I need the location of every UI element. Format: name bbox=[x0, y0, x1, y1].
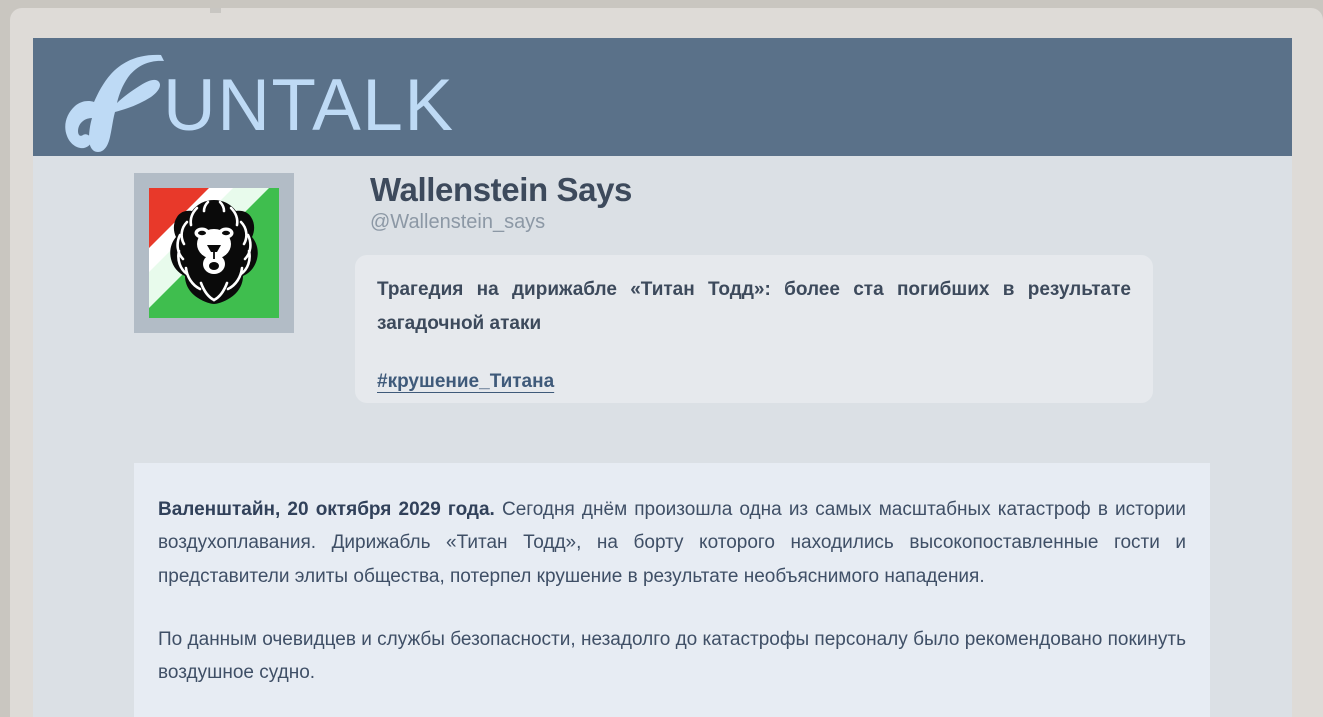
lion-head-avatar-icon[interactable] bbox=[149, 188, 279, 318]
script-f-icon bbox=[61, 52, 179, 152]
article-paragraph-2: По данным очевидцев и службы безопасност… bbox=[158, 623, 1186, 690]
article-dateline: Валенштайн, 20 октября 2029 года. bbox=[158, 499, 495, 520]
article-card: Валенштайн, 20 октября 2029 года. Сегодн… bbox=[134, 463, 1210, 717]
article-paragraph-1: Валенштайн, 20 октября 2029 года. Сегодн… bbox=[158, 493, 1186, 593]
avatar-frame bbox=[134, 173, 294, 333]
page-shell: UNTALK bbox=[10, 8, 1323, 717]
profile-handle: @Wallenstein_says bbox=[370, 210, 1219, 234]
content-panel: Wallenstein Says @Wallenstein_says Траге… bbox=[33, 156, 1292, 717]
top-edge-artifact bbox=[210, 8, 221, 13]
brand-wordmark: UNTALK bbox=[163, 69, 455, 142]
post-hashtag-link[interactable]: #крушение_Титана bbox=[377, 371, 554, 393]
post-headline: Трагедия на дирижабле «Титан Тодд»: боле… bbox=[377, 273, 1131, 341]
post-bubble: Трагедия на дирижабле «Титан Тодд»: боле… bbox=[355, 255, 1153, 403]
site-header: UNTALK bbox=[33, 38, 1292, 156]
profile-display-name: Wallenstein Says bbox=[370, 173, 1219, 208]
brand-logo[interactable]: UNTALK bbox=[61, 52, 455, 152]
profile-meta: Wallenstein Says @Wallenstein_says bbox=[370, 173, 1219, 234]
